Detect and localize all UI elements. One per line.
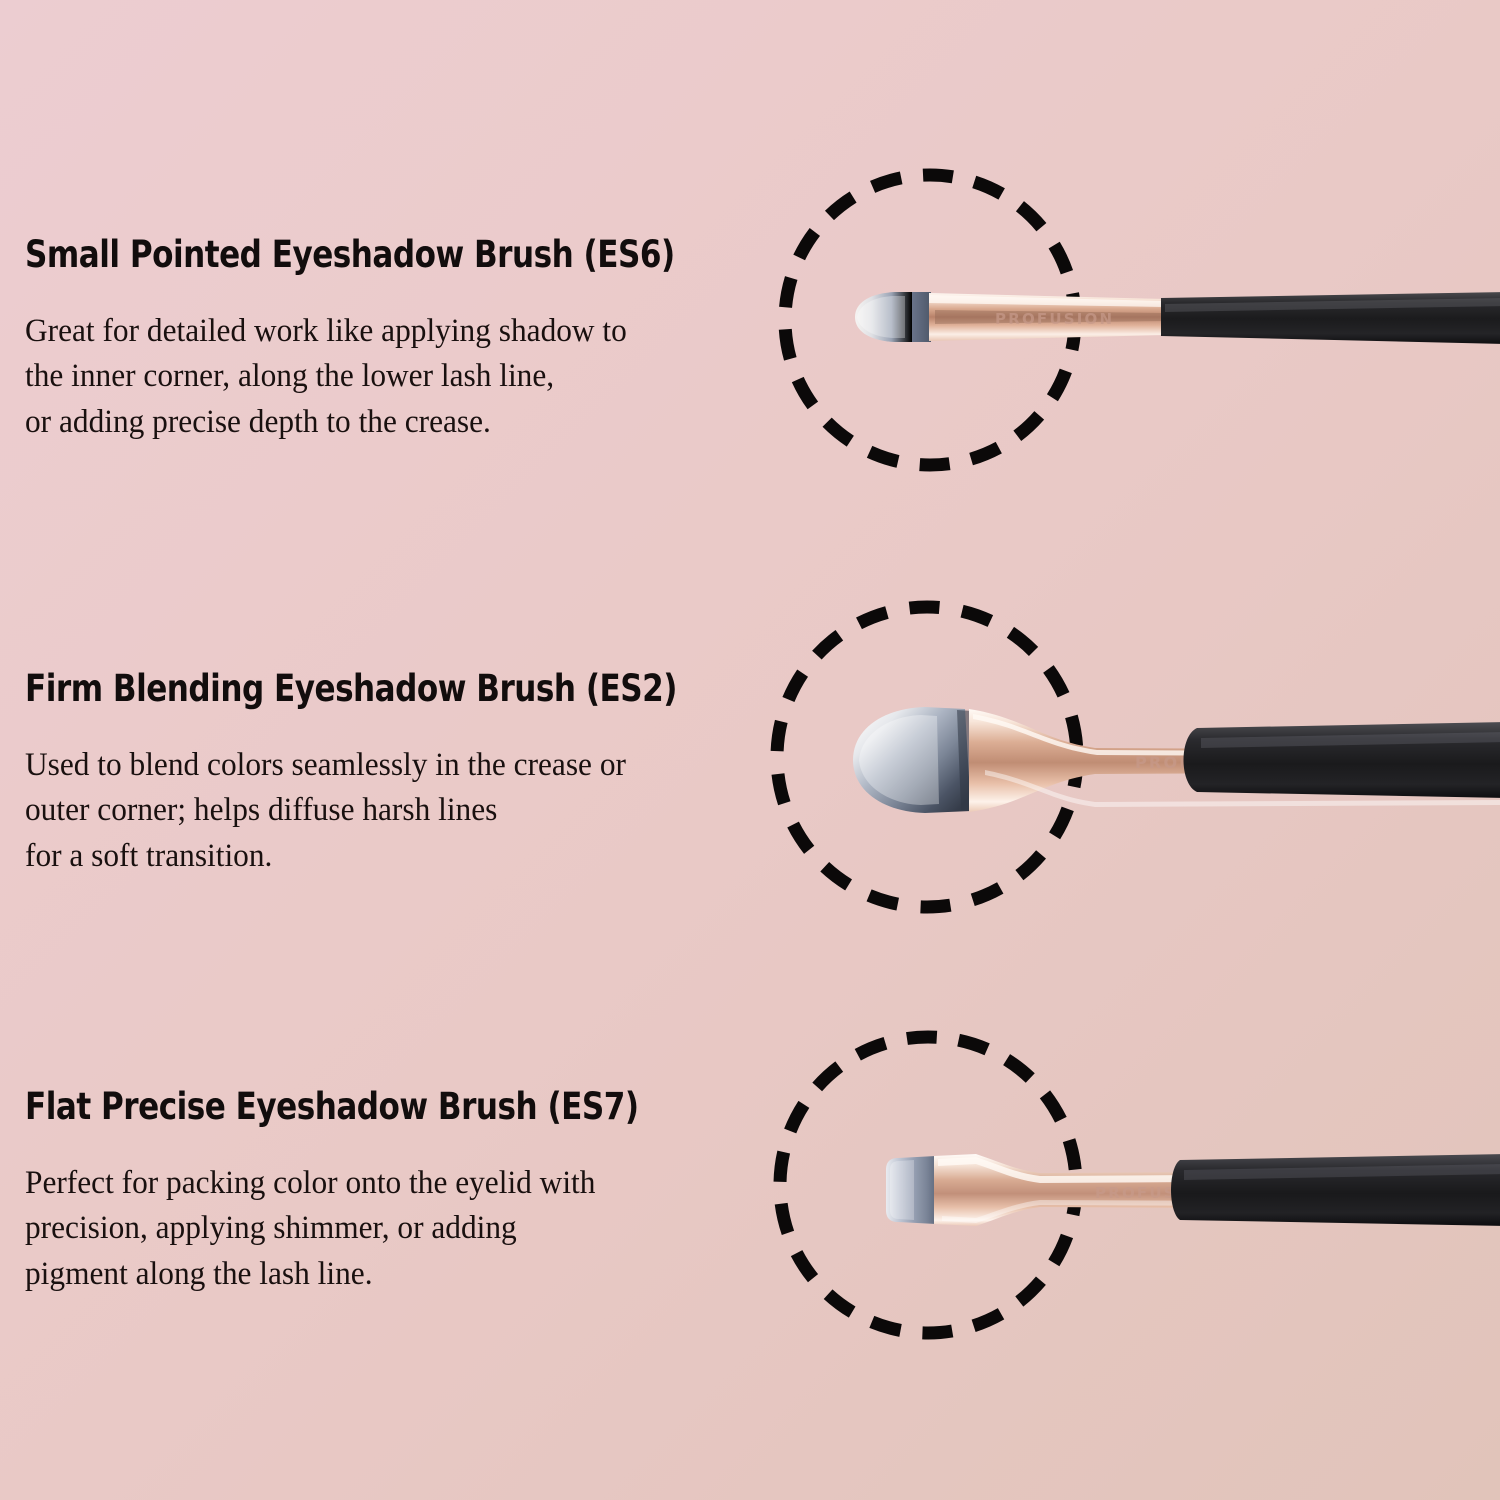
- description-line: outer corner; helps diffuse harsh lines: [25, 788, 774, 834]
- brush-head-bristles: [855, 292, 931, 342]
- brush-title-es6: Small Pointed Eyeshadow Brush (ES6): [25, 236, 675, 275]
- brush-title-es7: Flat Precise Eyeshadow Brush (ES7): [25, 1088, 639, 1127]
- description-line: Used to blend colors seamlessly in the c…: [25, 743, 774, 789]
- description-line: the inner corner, along the lower lash l…: [25, 354, 771, 400]
- brush-illustration-es7: PROFUSION: [880, 1140, 1500, 1240]
- brush-description-es2: Used to blend colors seamlessly in the c…: [25, 743, 774, 880]
- product-infographic: Small Pointed Eyeshadow Brush (ES6) Grea…: [0, 0, 1500, 1500]
- brand-embossed-label: PROFUSION: [995, 310, 1114, 328]
- brush-description-es7: Perfect for packing color onto the eyeli…: [25, 1161, 730, 1298]
- brush-illustration-es2: PROFUSION: [845, 700, 1500, 820]
- brush-handle: [1184, 722, 1500, 798]
- brush-text-block-es7: Flat Precise Eyeshadow Brush (ES7) Perfe…: [25, 1088, 755, 1297]
- brush-text-block-es2: Firm Blending Eyeshadow Brush (ES2) Used…: [25, 670, 801, 879]
- brush-head-bristles: [853, 707, 977, 813]
- description-line: precision, applying shimmer, or adding: [25, 1206, 730, 1252]
- brush-handle: [1171, 1154, 1500, 1226]
- description-line: Great for detailed work like applying sh…: [25, 309, 771, 355]
- description-line: or adding precise depth to the crease.: [25, 400, 771, 446]
- brush-title-es2: Firm Blending Eyeshadow Brush (ES2): [25, 670, 677, 709]
- brush-ferrule: PROFUSION: [929, 293, 1165, 341]
- brush-description-es6: Great for detailed work like applying sh…: [25, 309, 771, 446]
- brush-handle: [1161, 292, 1500, 344]
- brush-text-block-es6: Small Pointed Eyeshadow Brush (ES6) Grea…: [25, 236, 798, 445]
- brush-illustration-es6: PROFUSION: [845, 262, 1500, 372]
- description-line: Perfect for packing color onto the eyeli…: [25, 1161, 730, 1207]
- description-line: for a soft transition.: [25, 834, 774, 880]
- brush-head-bristles: [886, 1156, 936, 1224]
- description-line: pigment along the lash line.: [25, 1252, 730, 1298]
